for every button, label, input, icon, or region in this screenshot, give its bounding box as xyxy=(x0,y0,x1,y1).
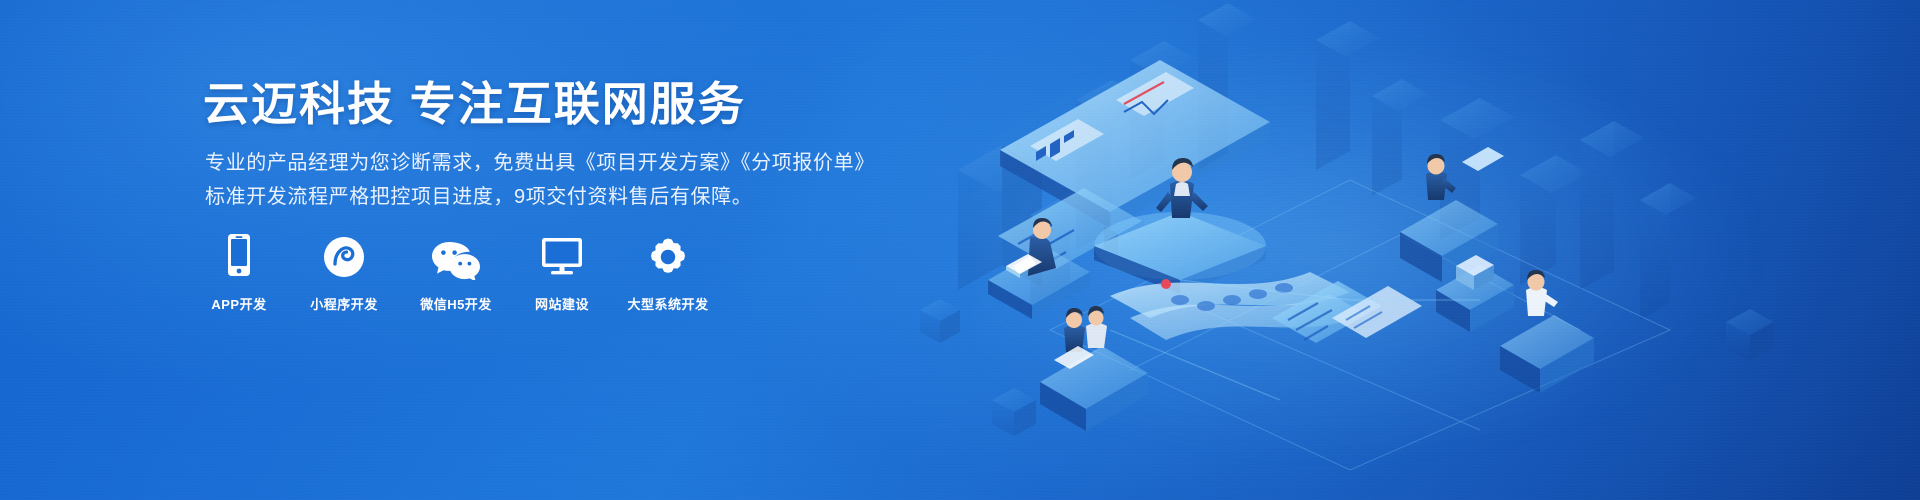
monitor-icon xyxy=(539,234,585,280)
service-item-app[interactable]: APP开发 xyxy=(200,234,278,313)
banner-subtitle: 专业的产品经理为您诊断需求，免费出具《项目开发方案》《分项报价单》 标准开发流程… xyxy=(205,146,905,214)
service-label: 大型系统开发 xyxy=(627,294,708,313)
service-label: APP开发 xyxy=(211,294,266,313)
wechat-icon xyxy=(430,234,482,280)
gear-icon xyxy=(646,234,690,280)
service-item-website[interactable]: 网站建设 xyxy=(524,234,600,313)
banner-content: 云迈科技 专注互联网服务 专业的产品经理为您诊断需求，免费出具《项目开发方案》《… xyxy=(0,0,960,500)
service-list: APP开发 小程序开发 xyxy=(200,234,714,313)
mobile-phone-icon xyxy=(224,234,254,280)
service-label: 网站建设 xyxy=(535,294,589,313)
service-label: 小程序开发 xyxy=(310,294,378,313)
service-label: 微信H5开发 xyxy=(420,294,492,313)
mini-program-icon xyxy=(322,234,366,280)
hero-banner: 云迈科技 专注互联网服务 专业的产品经理为您诊断需求，免费出具《项目开发方案》《… xyxy=(0,0,1920,500)
service-item-large-system[interactable]: 大型系统开发 xyxy=(622,234,714,313)
page-title: 云迈科技 专注互联网服务 xyxy=(203,76,746,134)
isometric-illustration xyxy=(880,0,1920,500)
service-item-wechat-h5[interactable]: 微信H5开发 xyxy=(410,234,502,313)
subtitle-line-2: 标准开发流程严格把控项目进度，9项交付资料售后有保障。 xyxy=(205,180,905,214)
subtitle-line-1: 专业的产品经理为您诊断需求，免费出具《项目开发方案》《分项报价单》 xyxy=(205,146,905,180)
service-item-mini-program[interactable]: 小程序开发 xyxy=(300,234,388,313)
